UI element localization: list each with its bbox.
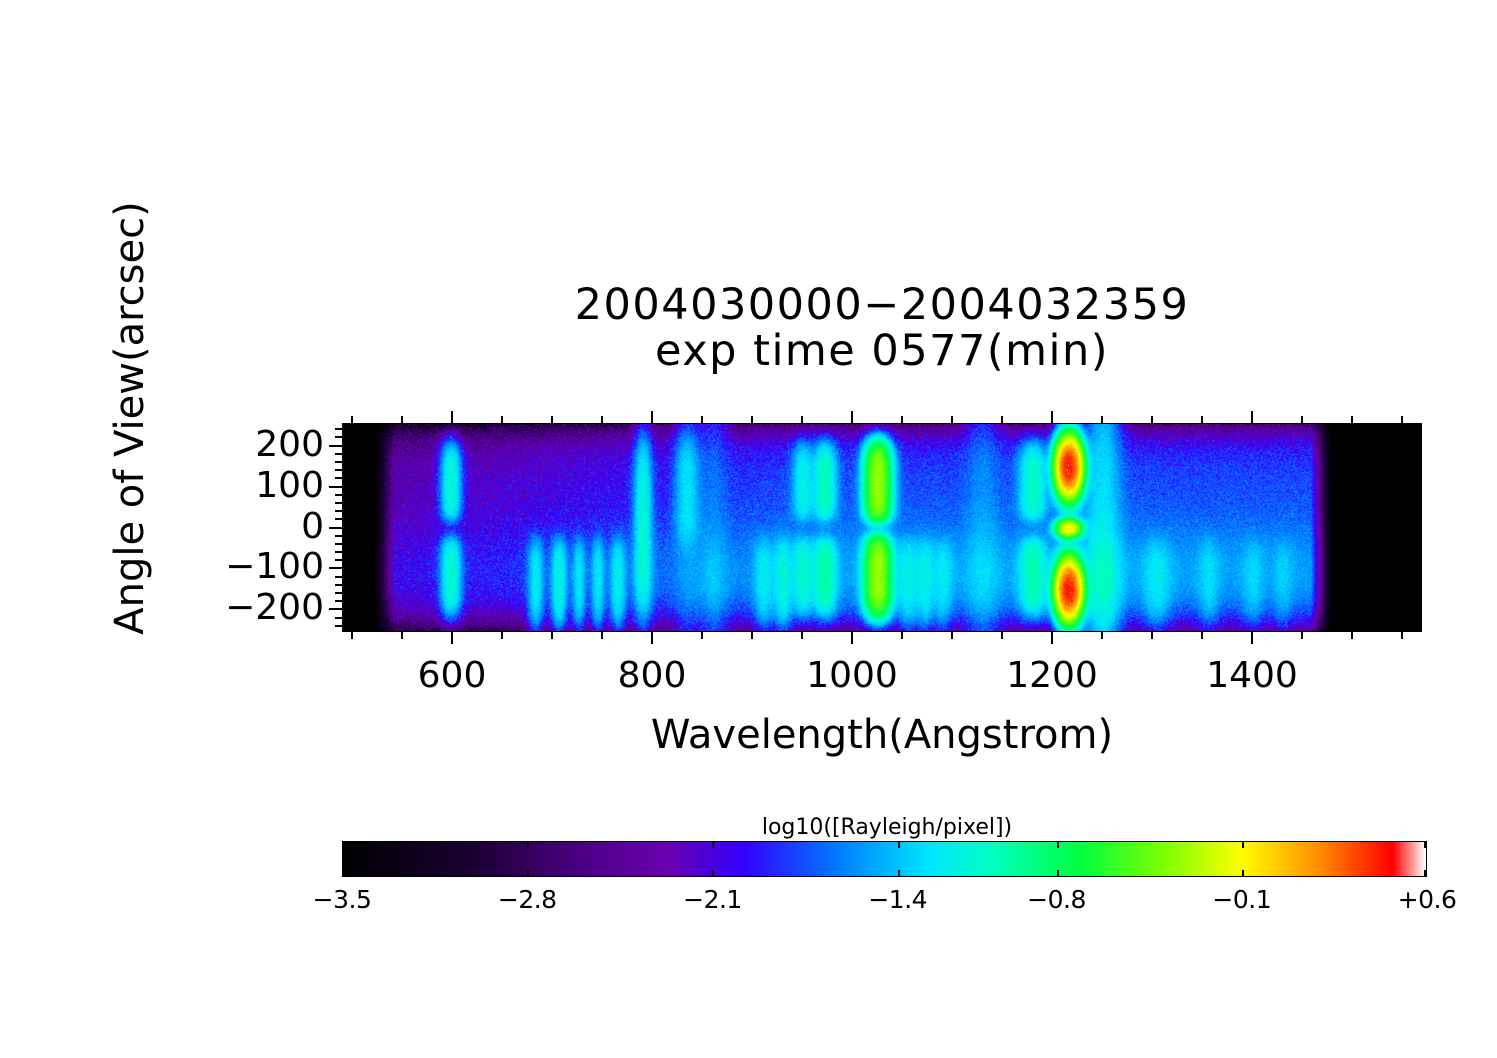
x-axis-title: Wavelength(Angstrom) [342, 712, 1422, 758]
colorbar-tick [1057, 841, 1059, 848]
x-axis-major-tick [451, 632, 453, 644]
colorbar-tick [343, 870, 345, 877]
y-axis-minor-tick [335, 510, 342, 512]
y-axis-minor-tick [335, 600, 342, 602]
x-axis-tick-label: 800 [618, 655, 687, 696]
y-axis-major-tick [329, 527, 342, 529]
x-axis-major-tick-top [1251, 411, 1253, 423]
x-axis-minor-tick [1001, 632, 1003, 639]
x-axis-minor-tick-top [951, 416, 953, 423]
colorbar-tick-label: +0.6 [1398, 885, 1457, 914]
colorbar-gradient [343, 842, 1426, 876]
y-axis-tick-label: −200 [225, 587, 324, 628]
x-axis-minor-tick [1101, 632, 1103, 639]
x-axis-tick-label: 600 [418, 655, 487, 696]
y-axis-minor-tick [335, 453, 342, 455]
x-axis-major-tick-top [451, 411, 453, 423]
colorbar-tick-label: −2.8 [498, 885, 557, 914]
y-axis-minor-tick [335, 518, 342, 520]
x-axis-minor-tick-top [801, 416, 803, 423]
x-axis-minor-tick [1401, 632, 1403, 639]
colorbar-tick [712, 870, 714, 877]
colorbar-tick [1242, 841, 1244, 848]
y-axis-minor-tick [335, 535, 342, 537]
y-axis-major-tick [329, 486, 342, 488]
x-axis-minor-tick-top [1151, 416, 1153, 423]
x-axis-minor-tick-top [701, 416, 703, 423]
x-axis-major-tick-top [851, 411, 853, 423]
y-axis-tick-label: 0 [301, 506, 324, 547]
x-axis-minor-tick-top [551, 416, 553, 423]
y-axis-minor-tick [335, 617, 342, 619]
colorbar-tick [898, 870, 900, 877]
spectrogram-plot-area [342, 423, 1422, 632]
x-axis-minor-tick-top [351, 416, 353, 423]
x-axis-minor-tick-top [1001, 416, 1003, 423]
x-axis-tick-labels: 600800100012001400 [0, 655, 1497, 703]
x-axis-tick-label: 1400 [1206, 655, 1298, 696]
x-axis-minor-tick [901, 632, 903, 639]
y-axis-major-tick [329, 445, 342, 447]
y-axis-minor-tick [335, 502, 342, 504]
x-axis-minor-tick-top [501, 416, 503, 423]
y-axis-minor-tick [335, 469, 342, 471]
x-axis-minor-tick-top [1401, 416, 1403, 423]
title-line-exposure: exp time 0577(min) [342, 329, 1422, 375]
y-axis-minor-tick [335, 477, 342, 479]
x-axis-major-tick [1251, 632, 1253, 644]
x-axis-minor-tick-top [601, 416, 603, 423]
x-axis-minor-tick-top [1201, 416, 1203, 423]
spectrogram-image [343, 424, 1422, 632]
colorbar-tick-labels: −3.5−2.8−2.1−1.4−0.8−0.1+0.6 [0, 885, 1497, 925]
x-axis-minor-tick-top [401, 416, 403, 423]
x-axis-minor-tick [951, 632, 953, 639]
x-axis-minor-tick [501, 632, 503, 639]
y-axis-tick-label: 200 [255, 424, 324, 465]
colorbar-tick-label: −0.1 [1212, 885, 1271, 914]
plot-title: 2004030000−2004032359 exp time 0577(min) [342, 283, 1422, 374]
colorbar-tick [898, 841, 900, 848]
x-axis-tick-label: 1200 [1006, 655, 1098, 696]
y-axis-minor-tick [335, 584, 342, 586]
x-axis-minor-tick [751, 632, 753, 639]
colorbar-tick-label: −3.5 [313, 885, 372, 914]
y-axis-tick-label: 100 [255, 465, 324, 506]
colorbar-tick-label: −1.4 [868, 885, 927, 914]
y-axis-minor-tick [335, 428, 342, 430]
colorbar-tick [527, 841, 529, 848]
y-axis-tick-labels: 2001000−100−200 [200, 423, 324, 632]
colorbar-tick [527, 870, 529, 877]
x-axis-minor-tick [551, 632, 553, 639]
x-axis-minor-tick [1301, 632, 1303, 639]
x-axis-major-tick-top [1051, 411, 1053, 423]
colorbar [342, 841, 1427, 877]
y-axis-minor-tick [335, 494, 342, 496]
y-axis-major-tick [329, 608, 342, 610]
x-axis-minor-tick [1151, 632, 1153, 639]
x-axis-minor-tick-top [1351, 416, 1353, 423]
colorbar-tick-label: −0.8 [1027, 885, 1086, 914]
y-axis-minor-tick [335, 576, 342, 578]
x-axis-minor-tick-top [901, 416, 903, 423]
y-axis-minor-tick [335, 551, 342, 553]
x-axis-major-tick [851, 632, 853, 644]
x-axis-minor-tick [701, 632, 703, 639]
colorbar-title: log10([Rayleigh/pixel]) [342, 815, 1432, 840]
x-axis-minor-tick [351, 632, 353, 639]
y-axis-minor-tick [335, 625, 342, 627]
y-axis-minor-tick [335, 543, 342, 545]
y-axis-tick-label: −100 [225, 546, 324, 587]
x-axis-minor-tick [801, 632, 803, 639]
colorbar-tick [712, 841, 714, 848]
y-axis-minor-tick [335, 592, 342, 594]
colorbar-tick [1424, 870, 1426, 877]
y-axis-major-tick [329, 567, 342, 569]
x-axis-major-tick [1051, 632, 1053, 644]
x-axis-tick-label: 1000 [806, 655, 898, 696]
colorbar-tick [1057, 870, 1059, 877]
x-axis-minor-tick [1351, 632, 1353, 639]
x-axis-major-tick [651, 632, 653, 644]
colorbar-tick-label: −2.1 [683, 885, 742, 914]
x-axis-minor-tick-top [1101, 416, 1103, 423]
y-axis-minor-tick [335, 436, 342, 438]
colorbar-tick [343, 841, 345, 848]
x-axis-minor-tick [1201, 632, 1203, 639]
x-axis-minor-tick [601, 632, 603, 639]
colorbar-tick [1424, 841, 1426, 848]
x-axis-major-tick-top [651, 411, 653, 423]
y-axis-minor-tick [335, 461, 342, 463]
y-axis-title: Angle of View(arcsec) [107, 158, 153, 678]
x-axis-minor-tick-top [751, 416, 753, 423]
title-line-date: 2004030000−2004032359 [342, 283, 1422, 329]
x-axis-minor-tick-top [1301, 416, 1303, 423]
x-axis-minor-tick [401, 632, 403, 639]
colorbar-tick [1242, 870, 1244, 877]
y-axis-minor-tick [335, 559, 342, 561]
